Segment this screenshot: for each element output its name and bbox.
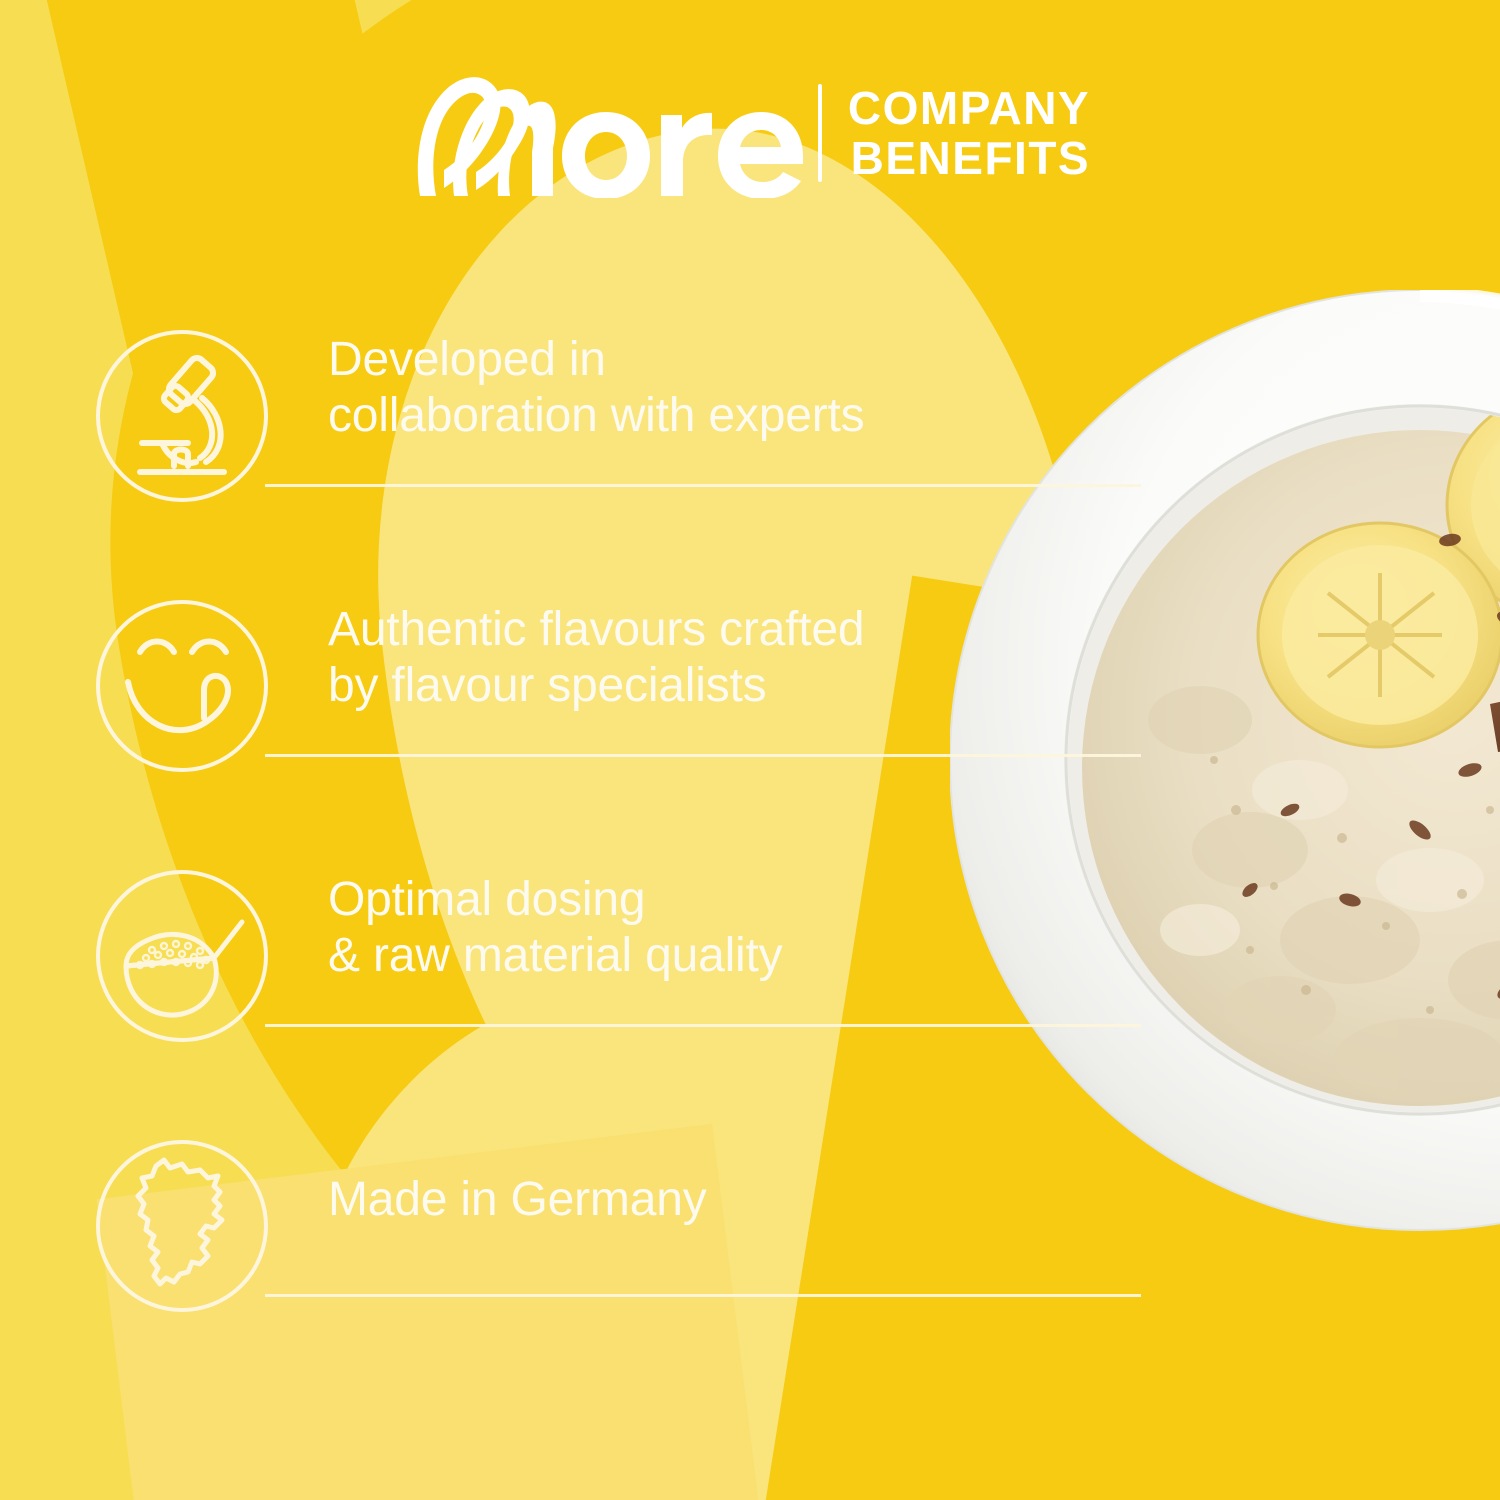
benefit-line1: Developed in [328,332,1088,388]
header-title-line1: COMPANY [848,83,1090,133]
benefit-row[interactable]: Made in Germany [0,1122,1500,1392]
benefits-list: Developed in collaboration with experts … [0,312,1500,1392]
header-title: COMPANY BENEFITS [848,83,1090,183]
benefit-text: Developed in collaboration with experts [328,332,1088,444]
microscope-icon [96,330,268,502]
benefit-line2: collaboration with experts [328,388,1088,444]
logo-divider [818,84,822,182]
benefit-row[interactable]: Developed in collaboration with experts [0,312,1500,582]
smiley-tongue-icon [96,600,268,772]
benefit-text: Made in Germany [328,1172,1088,1228]
benefit-line1: Made in Germany [328,1172,1088,1228]
benefit-line1: Optimal dosing [328,872,1088,928]
poster-canvas: COMPANY BENEFITS [0,0,1500,1500]
brand-lockup: COMPANY BENEFITS [410,68,1090,198]
benefit-row[interactable]: Authentic flavours crafted by flavour sp… [0,582,1500,852]
benefit-line1: Authentic flavours crafted [328,602,1088,658]
benefit-rule [265,754,1141,757]
more-wordmark-icon [410,68,810,198]
benefit-rule [265,1024,1141,1027]
header-title-line2: BENEFITS [848,133,1090,183]
benefit-text: Optimal dosing & raw material quality [328,872,1088,984]
benefit-line2: & raw material quality [328,928,1088,984]
benefit-text: Authentic flavours crafted by flavour sp… [328,602,1088,714]
benefit-row[interactable]: Optimal dosing & raw material quality [0,852,1500,1122]
germany-map-icon [96,1140,268,1312]
benefit-rule [265,484,1141,487]
grain-scoop-icon [96,870,268,1042]
benefit-line2: by flavour specialists [328,658,1088,714]
benefit-rule [265,1294,1141,1297]
header: COMPANY BENEFITS [0,58,1500,208]
